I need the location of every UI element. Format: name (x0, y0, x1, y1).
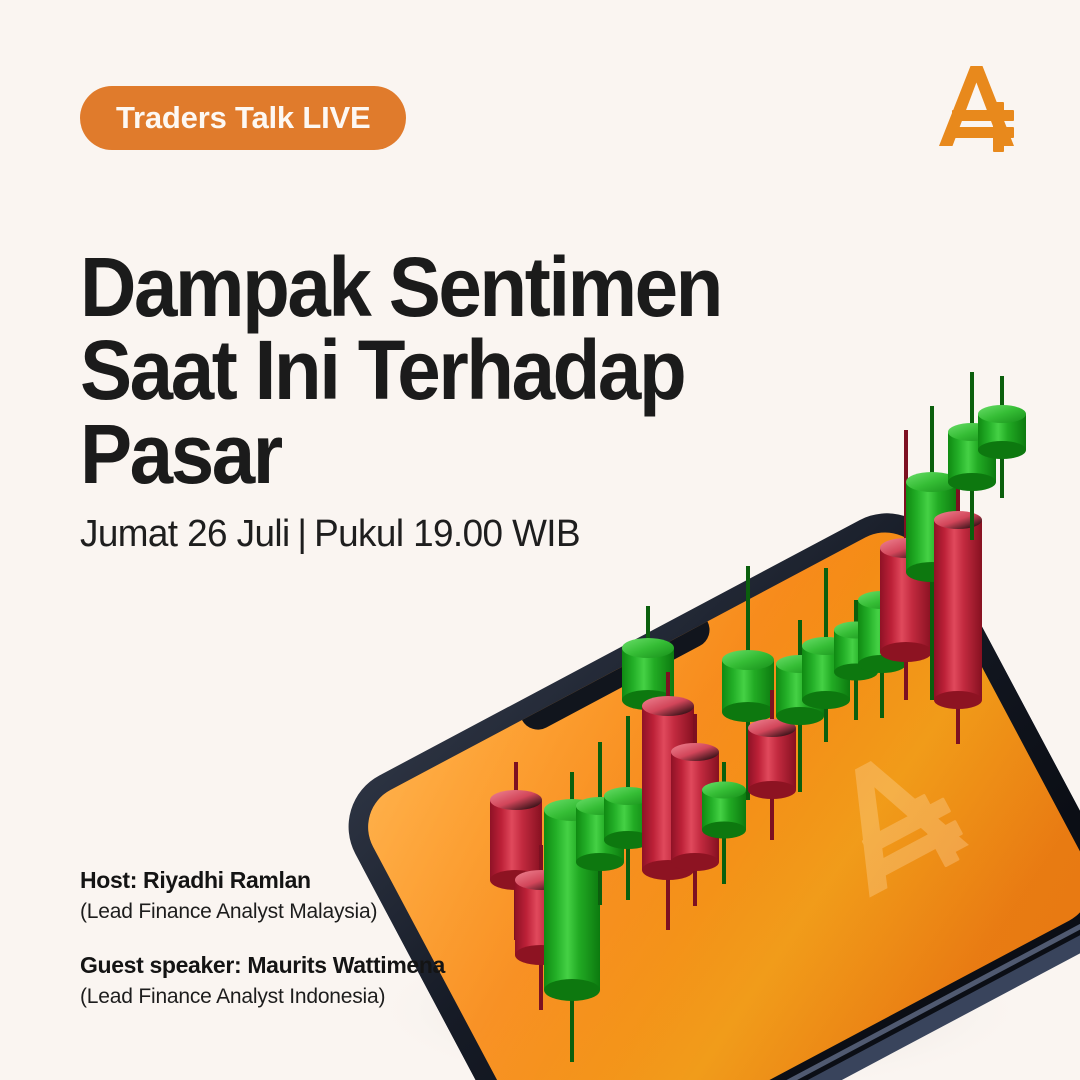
abc-a-logo-icon (930, 58, 1030, 158)
page-title: Dampak Sentimen Saat Ini Terhadap Pasar (80, 246, 731, 495)
page-title-line-3: Pasar (80, 413, 731, 496)
page-title-line-2: Saat Ini Terhadap (80, 329, 731, 412)
live-badge[interactable]: Traders Talk LIVE (80, 86, 406, 150)
live-badge-label: Traders Talk LIVE (116, 100, 370, 136)
brand-logo (930, 58, 1030, 158)
schedule-separator: | (297, 513, 306, 556)
schedule-time: Pukul 19.00 WIB (314, 513, 580, 555)
page-title-line-1: Dampak Sentimen (80, 246, 731, 329)
credit-guest: Guest speaker: Maurits Wattimena (Lead F… (80, 951, 445, 1010)
schedule-line: Jumat 26 Juli|Pukul 19.00 WIB (80, 513, 580, 556)
credit-host-role: (Lead Finance Analyst Malaysia) (80, 898, 445, 925)
speaker-credits: Host: Riyadhi Ramlan (Lead Finance Analy… (80, 866, 445, 1010)
credit-host-name: Host: Riyadhi Ramlan (80, 866, 445, 895)
credit-guest-role: (Lead Finance Analyst Indonesia) (80, 983, 445, 1010)
credit-host: Host: Riyadhi Ramlan (Lead Finance Analy… (80, 866, 445, 925)
credit-guest-name: Guest speaker: Maurits Wattimena (80, 951, 445, 980)
promo-poster: Traders Talk LIVE Dampak Sentimen Saat I… (0, 0, 1080, 1080)
schedule-date: Jumat 26 Juli (80, 513, 290, 555)
